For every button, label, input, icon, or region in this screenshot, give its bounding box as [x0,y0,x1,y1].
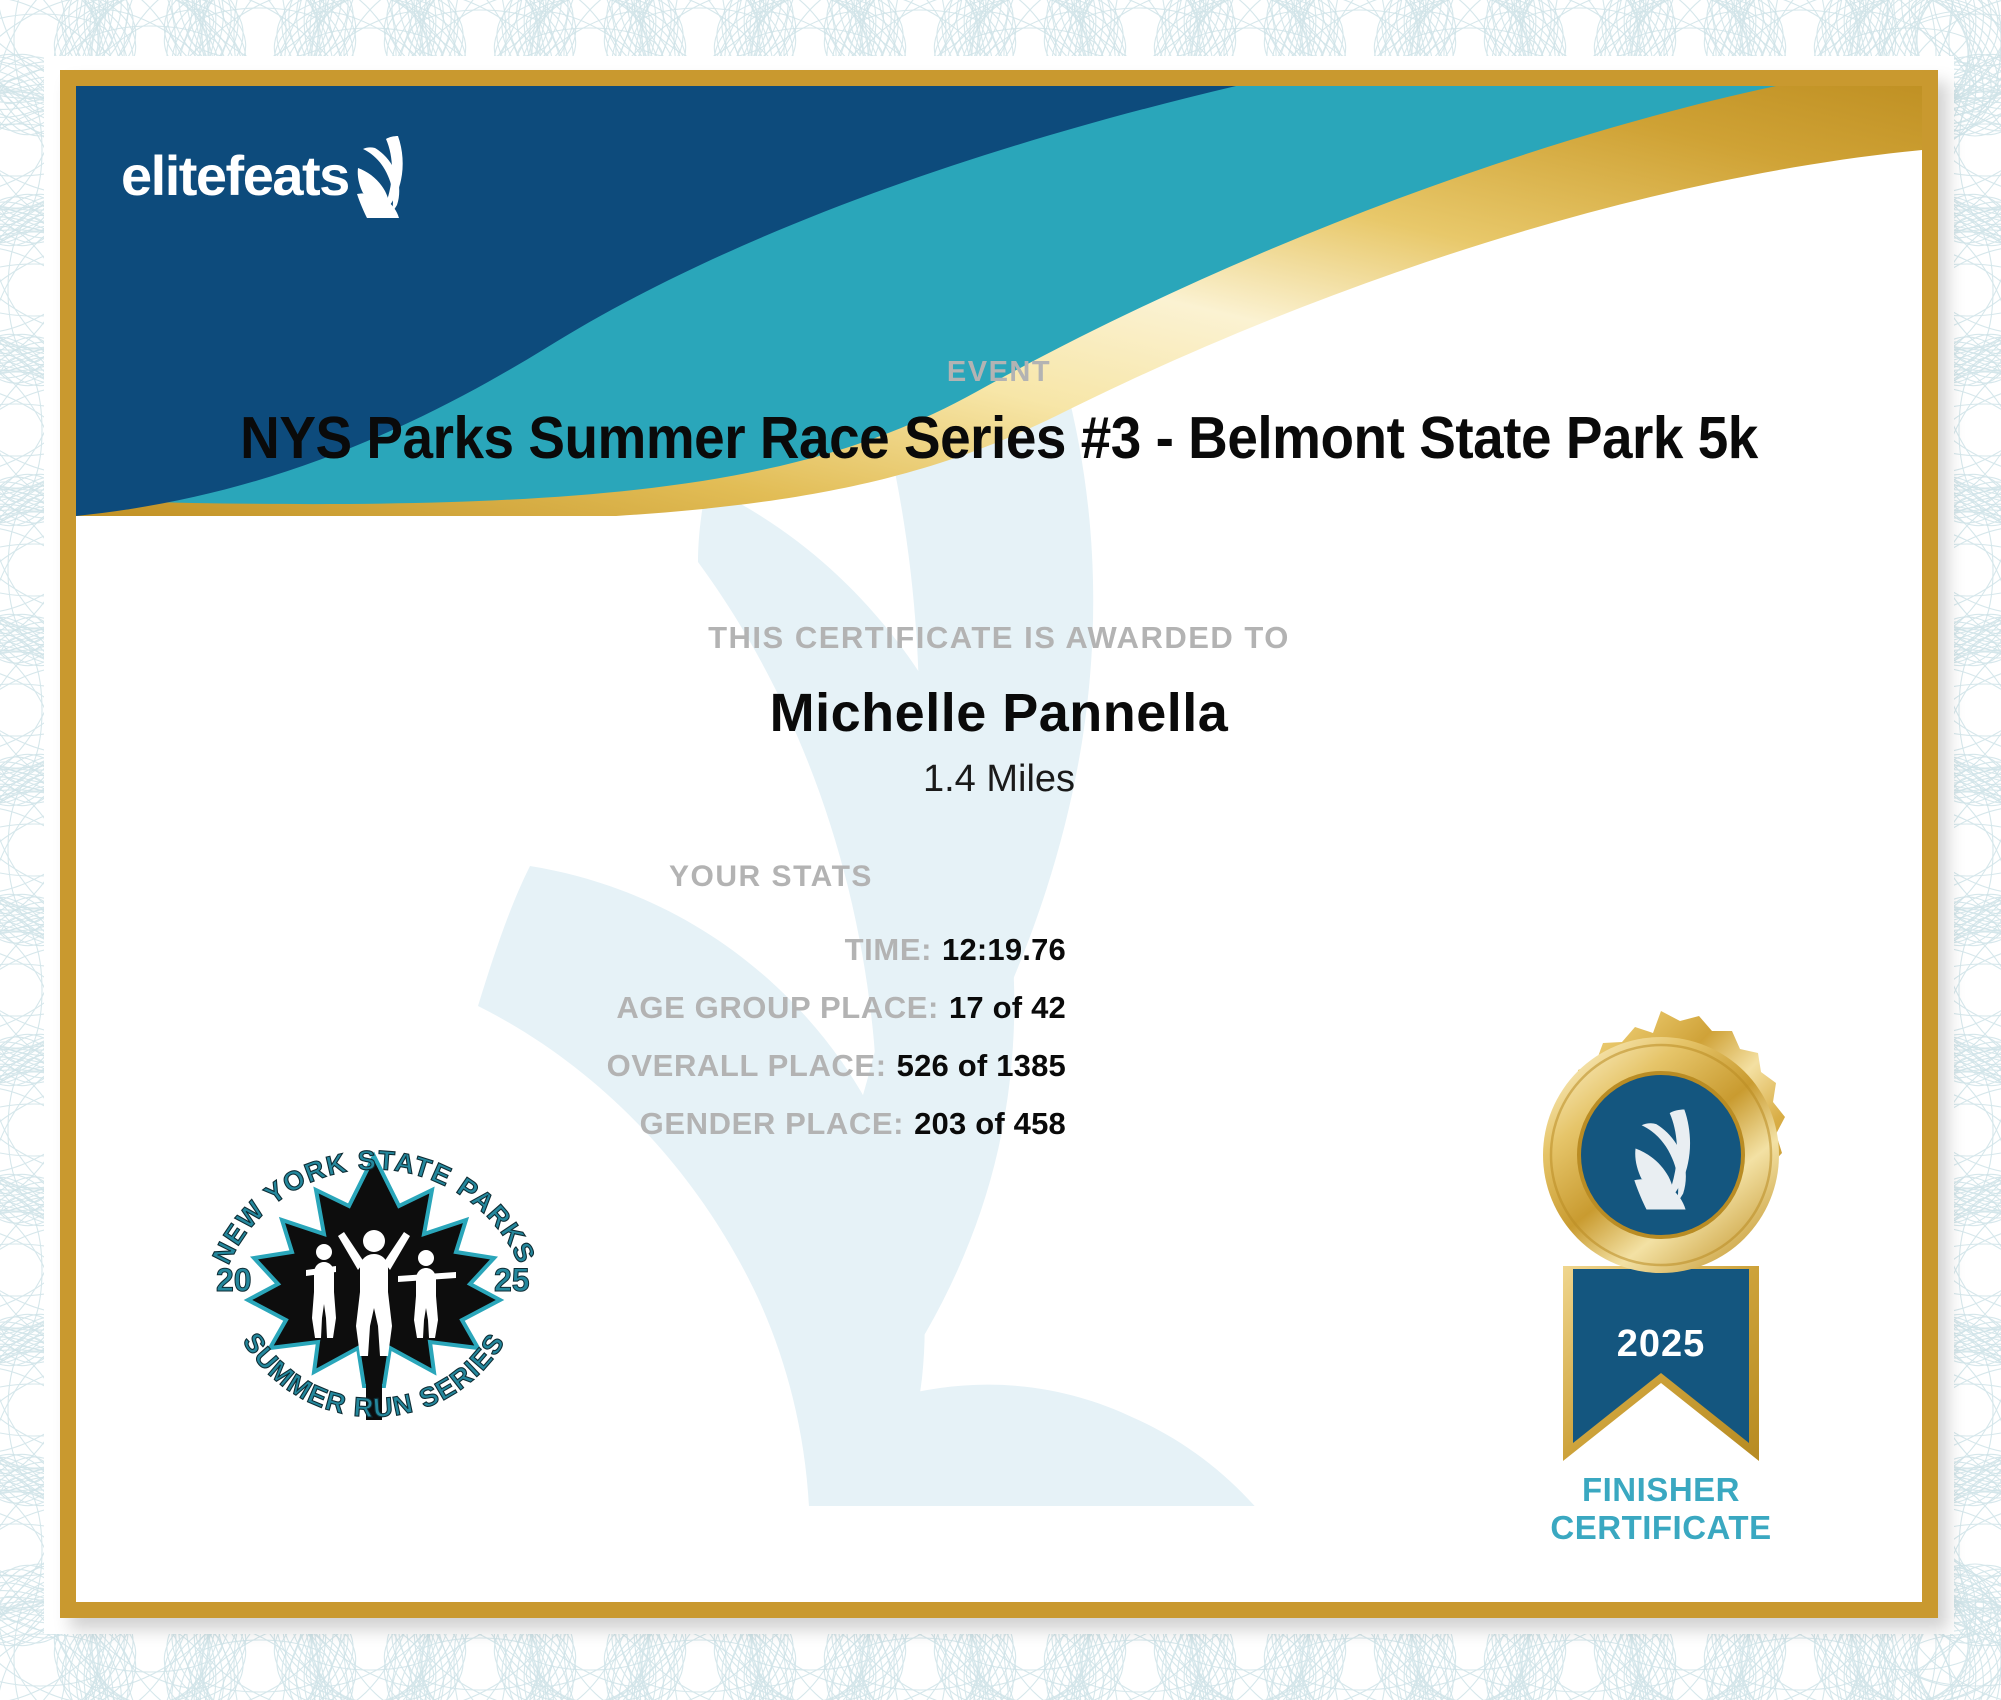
finisher-caption-line1: FINISHER [1466,1471,1856,1509]
nys-logo-year-left: 20 [216,1262,252,1298]
winged-foot-icon [351,134,417,218]
event-title: NYS Parks Summer Race Series #3 - Belmon… [148,404,1850,472]
stat-row-age-group-place: AGE GROUP PLACE: 17 of 42 [406,990,1066,1026]
finisher-certificate-caption: FINISHER CERTIFICATE [1466,1471,1856,1546]
finisher-caption-line2: CERTIFICATE [1466,1509,1856,1547]
elitefeats-logo: elitefeats [121,134,417,218]
certificate-inner: elitefeats EVENT NYS Parks Summer Race S… [76,86,1922,1602]
nys-logo-year-right: 25 [494,1262,530,1298]
stat-row-time: TIME: 12:19.76 [406,932,1066,968]
elitefeats-wordmark: elitefeats [121,148,349,204]
stat-label: GENDER PLACE: [640,1106,904,1142]
certificate-content: EVENT NYS Parks Summer Race Series #3 - … [76,86,1922,1602]
race-distance: 1.4 Miles [76,758,1922,801]
stat-row-overall-place: OVERALL PLACE: 526 of 1385 [406,1048,1066,1084]
stat-label: AGE GROUP PLACE: [616,990,939,1026]
stat-label: TIME: [845,932,932,968]
stat-label: OVERALL PLACE: [607,1048,887,1084]
finisher-medal-rosette: 2025 [1501,1011,1821,1461]
stat-value: 203 of 458 [914,1106,1066,1142]
stat-value: 12:19.76 [942,932,1066,968]
stat-value: 17 of 42 [949,990,1066,1026]
nys-parks-summer-run-series-logo: NEW YORK STATE PARKS SUMMER RUN SERIES 2… [194,1086,554,1456]
your-stats-label: YOUR STATS [76,860,1466,894]
recipient-name: Michelle Pannella [76,682,1922,744]
certificate-page: elitefeats EVENT NYS Parks Summer Race S… [0,0,2001,1700]
awarded-to-label: THIS CERTIFICATE IS AWARDED TO [76,620,1922,656]
event-label: EVENT [76,356,1922,389]
medal-ribbon-year: 2025 [1617,1323,1706,1365]
certificate-frame: elitefeats EVENT NYS Parks Summer Race S… [60,70,1938,1618]
stat-value: 526 of 1385 [897,1048,1066,1084]
